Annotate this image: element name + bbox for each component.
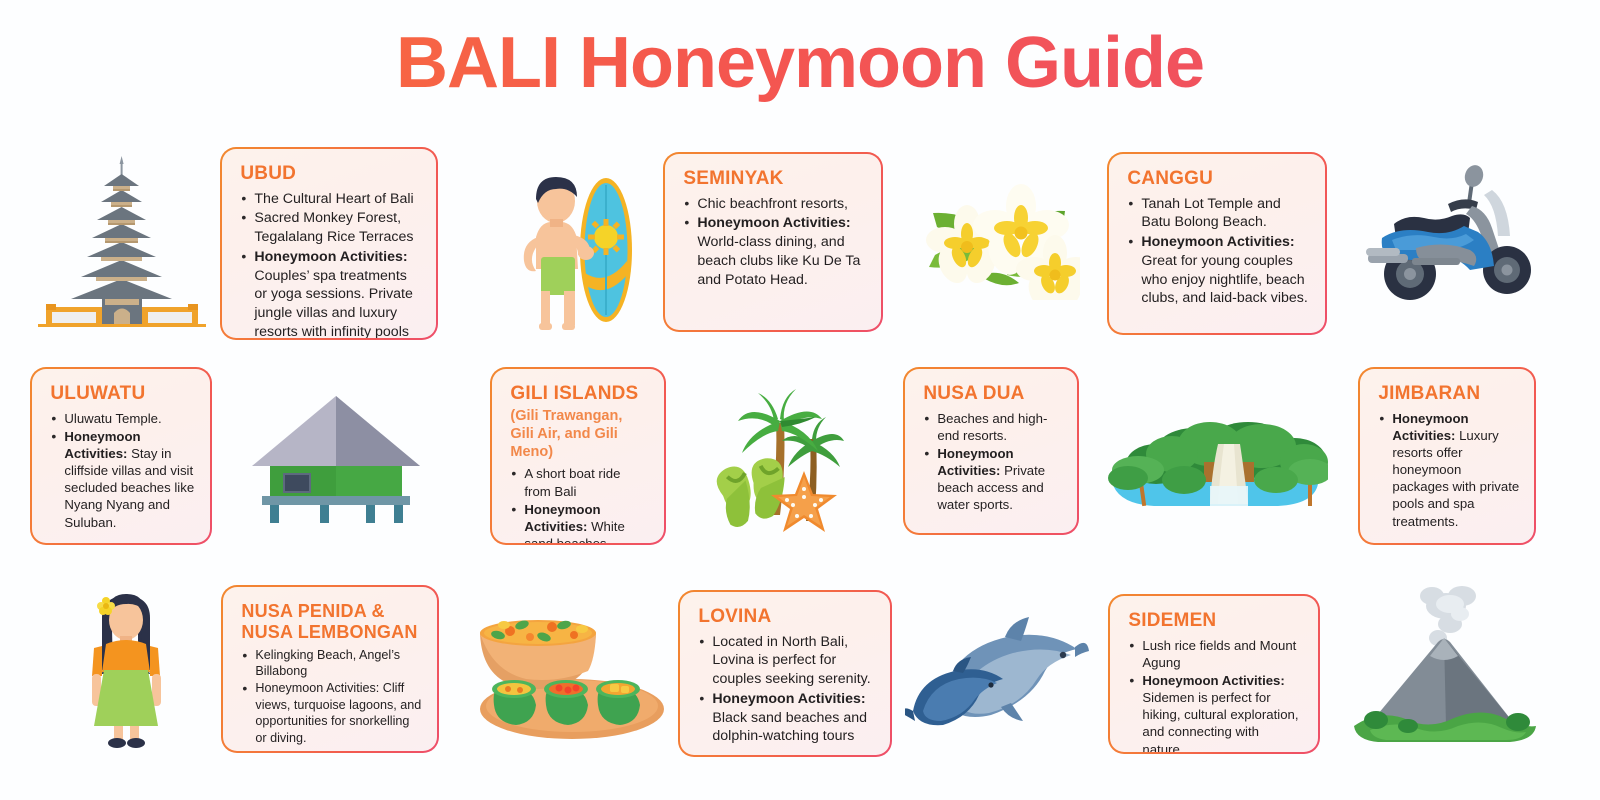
- list-item: Uluwatu Temple.: [50, 410, 195, 427]
- waterfall-jungle-illustration: [1098, 400, 1328, 515]
- card-bullets: Located in North Bali, Lovina is perfect…: [698, 633, 875, 746]
- list-item: Honeymoon Activities: White sand beaches…: [510, 501, 649, 543]
- palm-trees-flipflops-starfish-illustration: [698, 375, 846, 535]
- list-item: Honeymoon Activities: Private beach acce…: [923, 445, 1062, 514]
- list-item: Honeymoon Activities: Black sand beaches…: [698, 690, 875, 746]
- card-title: SIDEMEN: [1128, 610, 1303, 631]
- blue-scooter-illustration: [1352, 162, 1534, 307]
- card-title: GILI ISLANDS: [510, 383, 649, 404]
- card-bullets: A short boat ride from Bali Honeymoon Ac…: [510, 465, 649, 542]
- list-item: Chic beachfront resorts,: [683, 195, 866, 214]
- list-item: Tanah Lot Temple and Batu Bolong Beach.: [1127, 195, 1310, 232]
- card-bullets: Uluwatu Temple. Honeymoon Activities: St…: [50, 410, 195, 531]
- card-bullets: Honeymoon Activities: Luxury resorts off…: [1378, 410, 1519, 530]
- card-canggu[interactable]: CANGGU Tanah Lot Temple and Batu Bolong …: [1107, 152, 1327, 335]
- card-nusa-penida-lembongan[interactable]: NUSA PENIDA & NUSA LEMBONGAN Kelingking …: [221, 585, 439, 753]
- card-title: JIMBARAN: [1378, 383, 1519, 404]
- list-item: Honeymoon Activities: Cliff views, turqu…: [241, 680, 422, 745]
- list-item: The Cultural Heart of Bali: [240, 190, 421, 209]
- card-subtitle: (Gili Trawangan, Gili Air, and Gili Meno…: [510, 407, 649, 462]
- list-item: Kelingking Beach, Angel’s Billabong: [241, 647, 422, 680]
- list-item: Honeymoon Activities: Great for young co…: [1127, 233, 1310, 308]
- frangipani-flowers-illustration: [915, 175, 1080, 300]
- volcano-mount-agung-illustration: [1350, 580, 1540, 748]
- card-title: NUSA DUA: [923, 383, 1062, 404]
- card-bullets: Beaches and high-end resorts. Honeymoon …: [923, 410, 1062, 514]
- page-title: BALI Honeymoon Guide: [0, 24, 1600, 103]
- card-gili-islands[interactable]: GILI ISLANDS (Gili Trawangan, Gili Air, …: [490, 367, 666, 545]
- list-item: Honeymoon Activities: Stay in cliffside …: [50, 428, 195, 531]
- card-title: UBUD: [240, 163, 421, 184]
- card-title: SEMINYAK: [683, 168, 866, 189]
- card-seminyak[interactable]: SEMINYAK Chic beachfront resorts, Honeym…: [663, 152, 883, 332]
- list-item: Located in North Bali, Lovina is perfect…: [698, 633, 875, 689]
- balinese-woman-illustration: [58, 590, 194, 748]
- card-bullets: Kelingking Beach, Angel’s Billabong Hone…: [241, 647, 422, 746]
- card-title: LOVINA: [698, 606, 875, 627]
- card-jimbaran[interactable]: JIMBARAN Honeymoon Activities: Luxury re…: [1358, 367, 1536, 545]
- list-item: Sacred Monkey Forest, Tegalalang Rice Te…: [240, 209, 421, 246]
- list-item: Beaches and high-end resorts.: [923, 410, 1062, 444]
- card-title: NUSA PENIDA & NUSA LEMBONGAN: [241, 601, 422, 641]
- list-item: Honeymoon Activities: World-class dining…: [683, 214, 866, 289]
- stilt-villa-illustration: [248, 388, 424, 523]
- list-item: Honeymoon Activities: Couples’ spa treat…: [240, 248, 421, 338]
- card-bullets: Tanah Lot Temple and Batu Bolong Beach. …: [1127, 195, 1310, 308]
- list-item: Honeymoon Activities: Sidemen is perfect…: [1128, 672, 1303, 752]
- card-bullets: Lush rice fields and Mount Agung Honeymo…: [1128, 637, 1303, 752]
- card-ubud[interactable]: UBUD The Cultural Heart of Bali Sacred M…: [220, 147, 438, 340]
- balinese-pagoda-temple-illustration: [38, 152, 206, 327]
- card-title: CANGGU: [1127, 168, 1310, 189]
- surfer-with-surfboard-illustration: [498, 165, 648, 330]
- dolphins-illustration: [905, 615, 1090, 735]
- card-bullets: The Cultural Heart of Bali Sacred Monkey…: [240, 190, 421, 338]
- card-bullets: Chic beachfront resorts, Honeymoon Activ…: [683, 195, 866, 290]
- card-nusa-dua[interactable]: NUSA DUA Beaches and high-end resorts. H…: [903, 367, 1079, 535]
- list-item: Honeymoon Activities: Luxury resorts off…: [1378, 410, 1519, 530]
- card-title: ULUWATU: [50, 383, 195, 404]
- balinese-food-bowl-illustration: [448, 605, 666, 745]
- card-sidemen[interactable]: SIDEMEN Lush rice fields and Mount Agung…: [1108, 594, 1320, 754]
- card-lovina[interactable]: LOVINA Located in North Bali, Lovina is …: [678, 590, 892, 757]
- list-item: Lush rice fields and Mount Agung: [1128, 637, 1303, 671]
- list-item: A short boat ride from Bali: [510, 465, 649, 499]
- card-uluwatu[interactable]: ULUWATU Uluwatu Temple. Honeymoon Activi…: [30, 367, 212, 545]
